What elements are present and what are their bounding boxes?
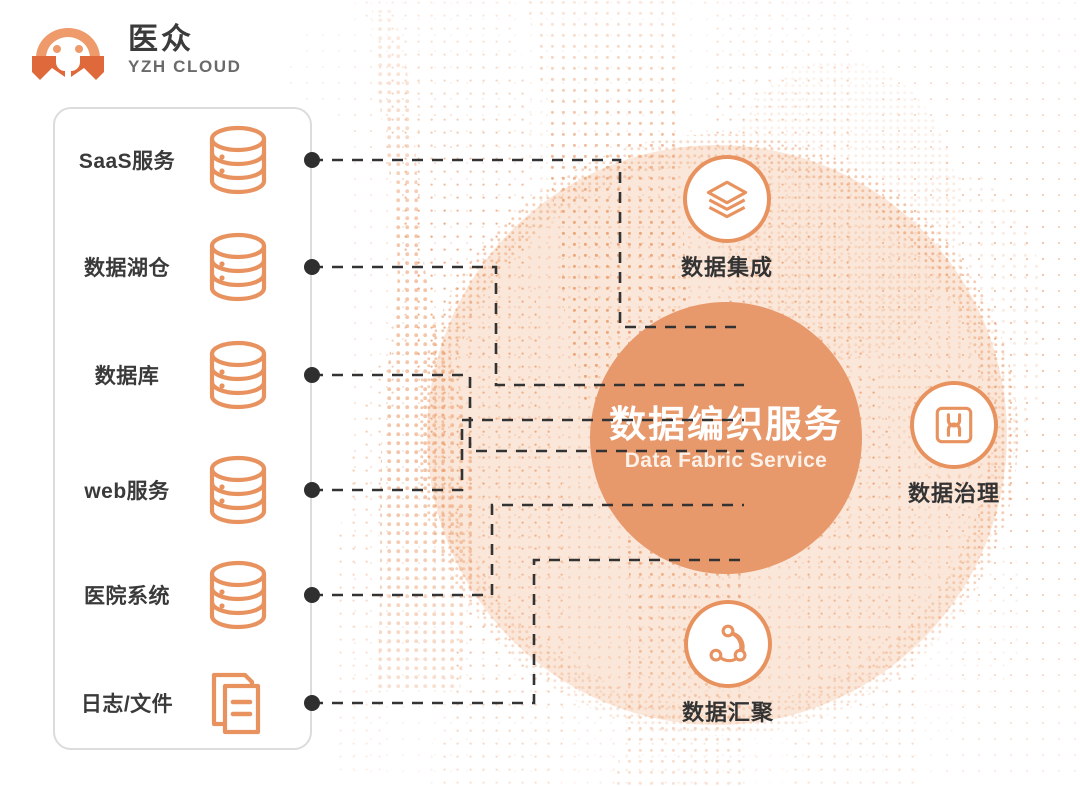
list-item[interactable]: 数据库 <box>53 335 312 415</box>
connector-dot <box>304 482 320 498</box>
source-label: 数据库 <box>53 360 201 390</box>
data-source-panel <box>53 107 312 750</box>
yzh-mask-logo-icon <box>22 16 114 84</box>
core-title-en: Data Fabric Service <box>625 449 828 473</box>
diagram-canvas: 数据编织服务 Data Fabric Service <box>0 0 1080 786</box>
database-cylinder-icon <box>201 558 275 632</box>
connector-dot <box>304 587 320 603</box>
connector-dot <box>304 259 320 275</box>
database-cylinder-icon <box>201 123 275 197</box>
source-label: web服务 <box>53 475 201 505</box>
document-stack-icon <box>201 666 275 740</box>
brand-logo: 医众 YZH CLOUD <box>22 16 242 84</box>
node-label: 数据集成 <box>681 250 773 282</box>
database-cylinder-icon <box>201 230 275 304</box>
database-cylinder-icon <box>201 338 275 412</box>
list-item[interactable]: 医院系统 <box>53 555 312 635</box>
source-label: 医院系统 <box>53 580 201 610</box>
source-label: 日志/文件 <box>53 688 201 718</box>
brand-name-en: YZH CLOUD <box>128 58 242 76</box>
node-label: 数据治理 <box>908 476 1000 508</box>
database-cylinder-icon <box>201 453 275 527</box>
source-label: 数据湖仓 <box>53 252 201 282</box>
list-item[interactable]: SaaS服务 <box>53 120 312 200</box>
wrench-square-icon <box>910 381 998 469</box>
core-title-cn: 数据编织服务 <box>609 403 843 447</box>
layers-stack-icon <box>683 155 771 243</box>
node-data-governance[interactable]: 数据治理 <box>908 381 1000 508</box>
list-item[interactable]: 日志/文件 <box>53 663 312 743</box>
connector-dot <box>304 367 320 383</box>
list-item[interactable]: 数据湖仓 <box>53 227 312 307</box>
node-data-integration[interactable]: 数据集成 <box>681 155 773 282</box>
network-nodes-icon <box>684 600 772 688</box>
connector-dot <box>304 152 320 168</box>
source-label: SaaS服务 <box>53 145 201 175</box>
node-data-aggregation[interactable]: 数据汇聚 <box>682 600 774 727</box>
list-item[interactable]: web服务 <box>53 450 312 530</box>
brand-name-cn: 医众 <box>128 24 242 56</box>
data-fabric-core: 数据编织服务 Data Fabric Service <box>590 302 862 574</box>
connector-dot <box>304 695 320 711</box>
node-label: 数据汇聚 <box>682 695 774 727</box>
